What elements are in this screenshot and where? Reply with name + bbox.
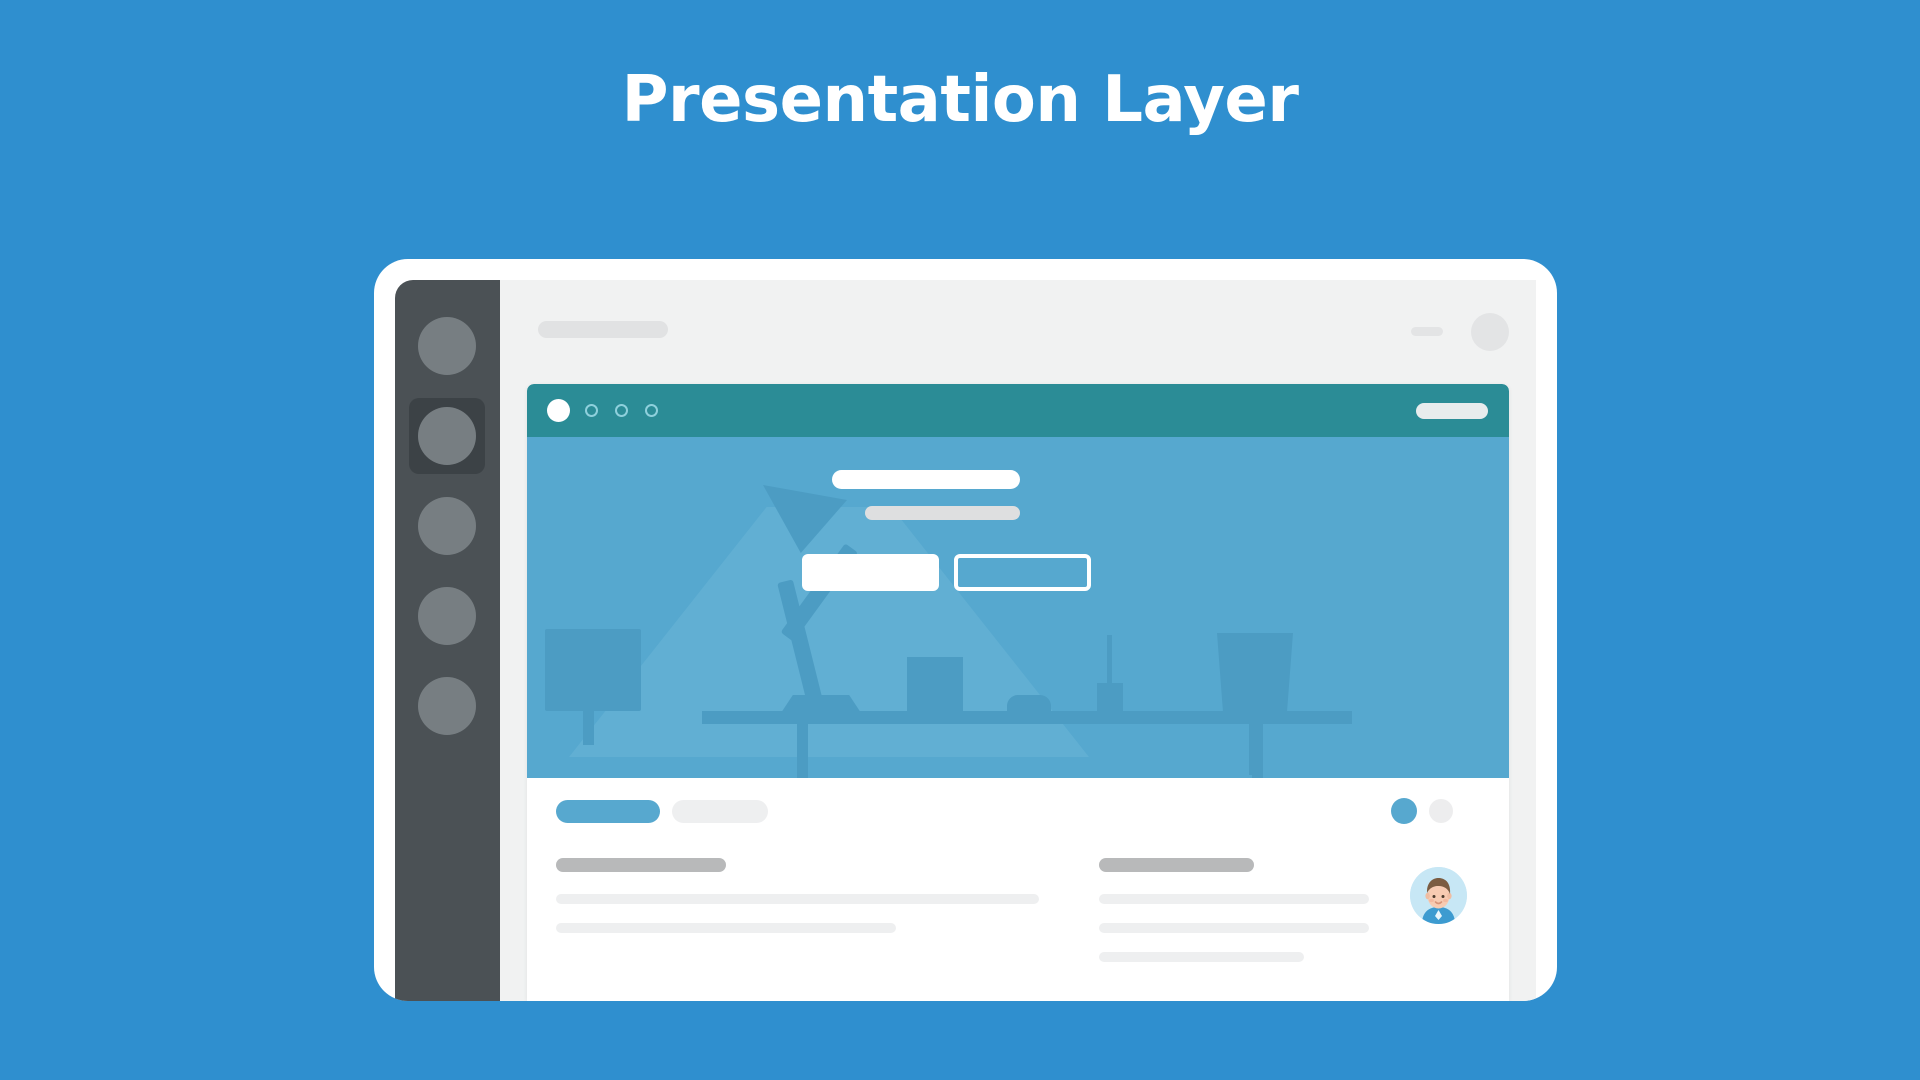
circle-icon xyxy=(418,587,476,645)
content-heading-placeholder xyxy=(556,858,726,872)
plant-pot-silhouette xyxy=(1217,633,1293,713)
monitor-silhouette xyxy=(545,629,641,711)
desk-leg-left xyxy=(797,724,808,778)
content-text-line xyxy=(1099,952,1304,962)
circle-outline-icon[interactable] xyxy=(615,404,628,417)
app-content-area xyxy=(500,280,1536,1001)
desk-surface xyxy=(702,711,1352,724)
tab-inactive[interactable] xyxy=(672,800,768,823)
content-text-line xyxy=(1099,923,1369,933)
circle-icon xyxy=(418,497,476,555)
pen-silhouette xyxy=(1107,635,1112,687)
circle-outline-icon[interactable] xyxy=(585,404,598,417)
sidebar-item-1[interactable] xyxy=(409,308,485,384)
minimize-dash-icon[interactable] xyxy=(1411,327,1443,336)
content-column-left xyxy=(556,858,1039,952)
pagination-dot-inactive[interactable] xyxy=(1429,799,1453,823)
pen-cup-silhouette xyxy=(1097,683,1123,713)
circle-outline-icon[interactable] xyxy=(645,404,658,417)
hero-banner xyxy=(527,437,1509,778)
url-bar-placeholder[interactable] xyxy=(1416,403,1488,419)
tab-active[interactable] xyxy=(556,800,660,823)
hero-secondary-cta-button[interactable] xyxy=(954,554,1091,591)
circle-filled-icon[interactable] xyxy=(547,399,570,422)
content-heading-placeholder xyxy=(1099,858,1254,872)
page-title: Presentation Layer xyxy=(0,68,1920,132)
account-circle-icon[interactable] xyxy=(1471,313,1509,351)
sidebar-item-3[interactable] xyxy=(409,488,485,564)
circle-icon xyxy=(418,317,476,375)
tablet-device-frame xyxy=(374,259,1557,1001)
monitor-stand-silhouette xyxy=(583,711,594,745)
content-text-line xyxy=(1099,894,1369,904)
sidebar-item-4[interactable] xyxy=(409,578,485,654)
content-column-right xyxy=(1099,858,1369,981)
app-title-placeholder xyxy=(538,321,668,338)
sidebar-item-5[interactable] xyxy=(409,668,485,744)
browser-titlebar xyxy=(527,384,1509,437)
hero-primary-cta-button[interactable] xyxy=(802,554,939,591)
box-silhouette xyxy=(907,657,963,712)
app-navigation-sidebar xyxy=(395,280,500,1001)
desk-leg-right xyxy=(1252,724,1263,778)
content-text-line xyxy=(556,923,896,933)
browser-window-card xyxy=(527,384,1509,1001)
user-avatar-icon[interactable] xyxy=(1410,867,1467,924)
sidebar-item-2-active[interactable] xyxy=(409,398,485,474)
content-text-line xyxy=(556,894,1039,904)
pagination-dot-active[interactable] xyxy=(1391,798,1417,824)
circle-icon xyxy=(418,407,476,465)
hero-headline-placeholder xyxy=(832,470,1020,489)
hero-subheadline-placeholder xyxy=(865,506,1020,520)
app-topbar xyxy=(500,280,1536,384)
browser-content-area xyxy=(527,778,1509,1001)
circle-icon xyxy=(418,677,476,735)
